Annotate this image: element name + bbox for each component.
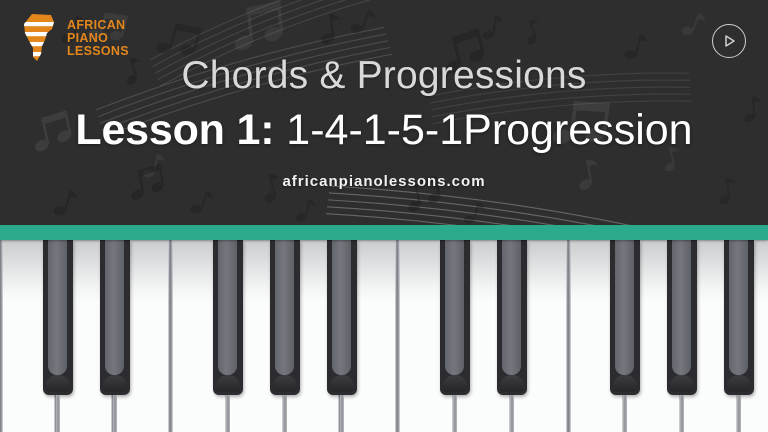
black-key-front-edge	[727, 375, 751, 392]
white-key-divider[interactable]	[395, 240, 400, 432]
course-title: Chords & Progressions	[181, 56, 586, 95]
white-key-divider	[226, 395, 230, 432]
black-key-highlight	[615, 240, 634, 375]
black-key[interactable]	[213, 240, 243, 395]
black-key-highlight	[48, 240, 67, 375]
white-key-divider	[453, 395, 457, 432]
brand-line-1: AFRICAN	[67, 19, 129, 32]
website-url: africanpianolessons.com	[282, 173, 485, 190]
black-key-front-edge	[46, 375, 70, 392]
white-key-divider	[680, 395, 684, 432]
black-key[interactable]	[100, 240, 130, 395]
black-key-front-edge	[103, 375, 127, 392]
lesson-thumbnail: AFRICAN PIANO LESSONS Chords & Progressi…	[0, 0, 768, 432]
white-key-divider[interactable]	[168, 240, 173, 432]
black-key[interactable]	[724, 240, 754, 395]
black-key-front-edge	[330, 375, 354, 392]
white-key-divider	[113, 395, 117, 432]
black-key[interactable]	[270, 240, 300, 395]
piano-keyboard[interactable]	[0, 240, 768, 432]
black-key-highlight	[502, 240, 521, 375]
white-key-divider	[510, 395, 514, 432]
black-key[interactable]	[440, 240, 470, 395]
black-key-front-edge	[613, 375, 637, 392]
black-key[interactable]	[667, 240, 697, 395]
black-key-highlight	[218, 240, 237, 375]
white-key-divider	[623, 395, 627, 432]
black-key-highlight	[332, 240, 351, 375]
white-key-divider	[283, 395, 287, 432]
black-key[interactable]	[610, 240, 640, 395]
black-key-highlight	[445, 240, 464, 375]
black-key-front-edge	[500, 375, 524, 392]
black-key[interactable]	[327, 240, 357, 395]
black-key-highlight	[729, 240, 748, 375]
white-key-divider[interactable]	[566, 240, 571, 432]
brand-wordmark: AFRICAN PIANO LESSONS	[67, 19, 129, 58]
header-banner: AFRICAN PIANO LESSONS Chords & Progressi…	[0, 0, 768, 225]
black-key[interactable]	[497, 240, 527, 395]
white-key-divider	[56, 395, 60, 432]
black-key-highlight	[275, 240, 294, 375]
black-key-highlight	[672, 240, 691, 375]
black-key[interactable]	[43, 240, 73, 395]
black-key-highlight	[105, 240, 124, 375]
lesson-topic-label: 1-4-1-5-1Progression	[274, 106, 692, 154]
black-key-front-edge	[443, 375, 467, 392]
black-key-front-edge	[273, 375, 297, 392]
brand-logo[interactable]: AFRICAN PIANO LESSONS	[20, 12, 138, 64]
accent-divider-bar	[0, 225, 768, 240]
play-circle-icon[interactable]	[712, 24, 746, 58]
white-key-divider	[340, 395, 344, 432]
play-triangle-icon	[723, 34, 736, 48]
black-key-front-edge	[670, 375, 694, 392]
black-key-front-edge	[216, 375, 240, 392]
lesson-number-label: Lesson 1:	[75, 106, 274, 154]
africa-map-piano-icon	[20, 13, 62, 63]
lesson-title: Lesson 1: 1-4-1-5-1Progression	[75, 108, 692, 153]
white-key-divider	[737, 395, 741, 432]
brand-line-2: PIANO	[67, 32, 129, 45]
white-key-divider[interactable]	[0, 240, 3, 432]
brand-line-3: LESSONS	[67, 45, 129, 58]
